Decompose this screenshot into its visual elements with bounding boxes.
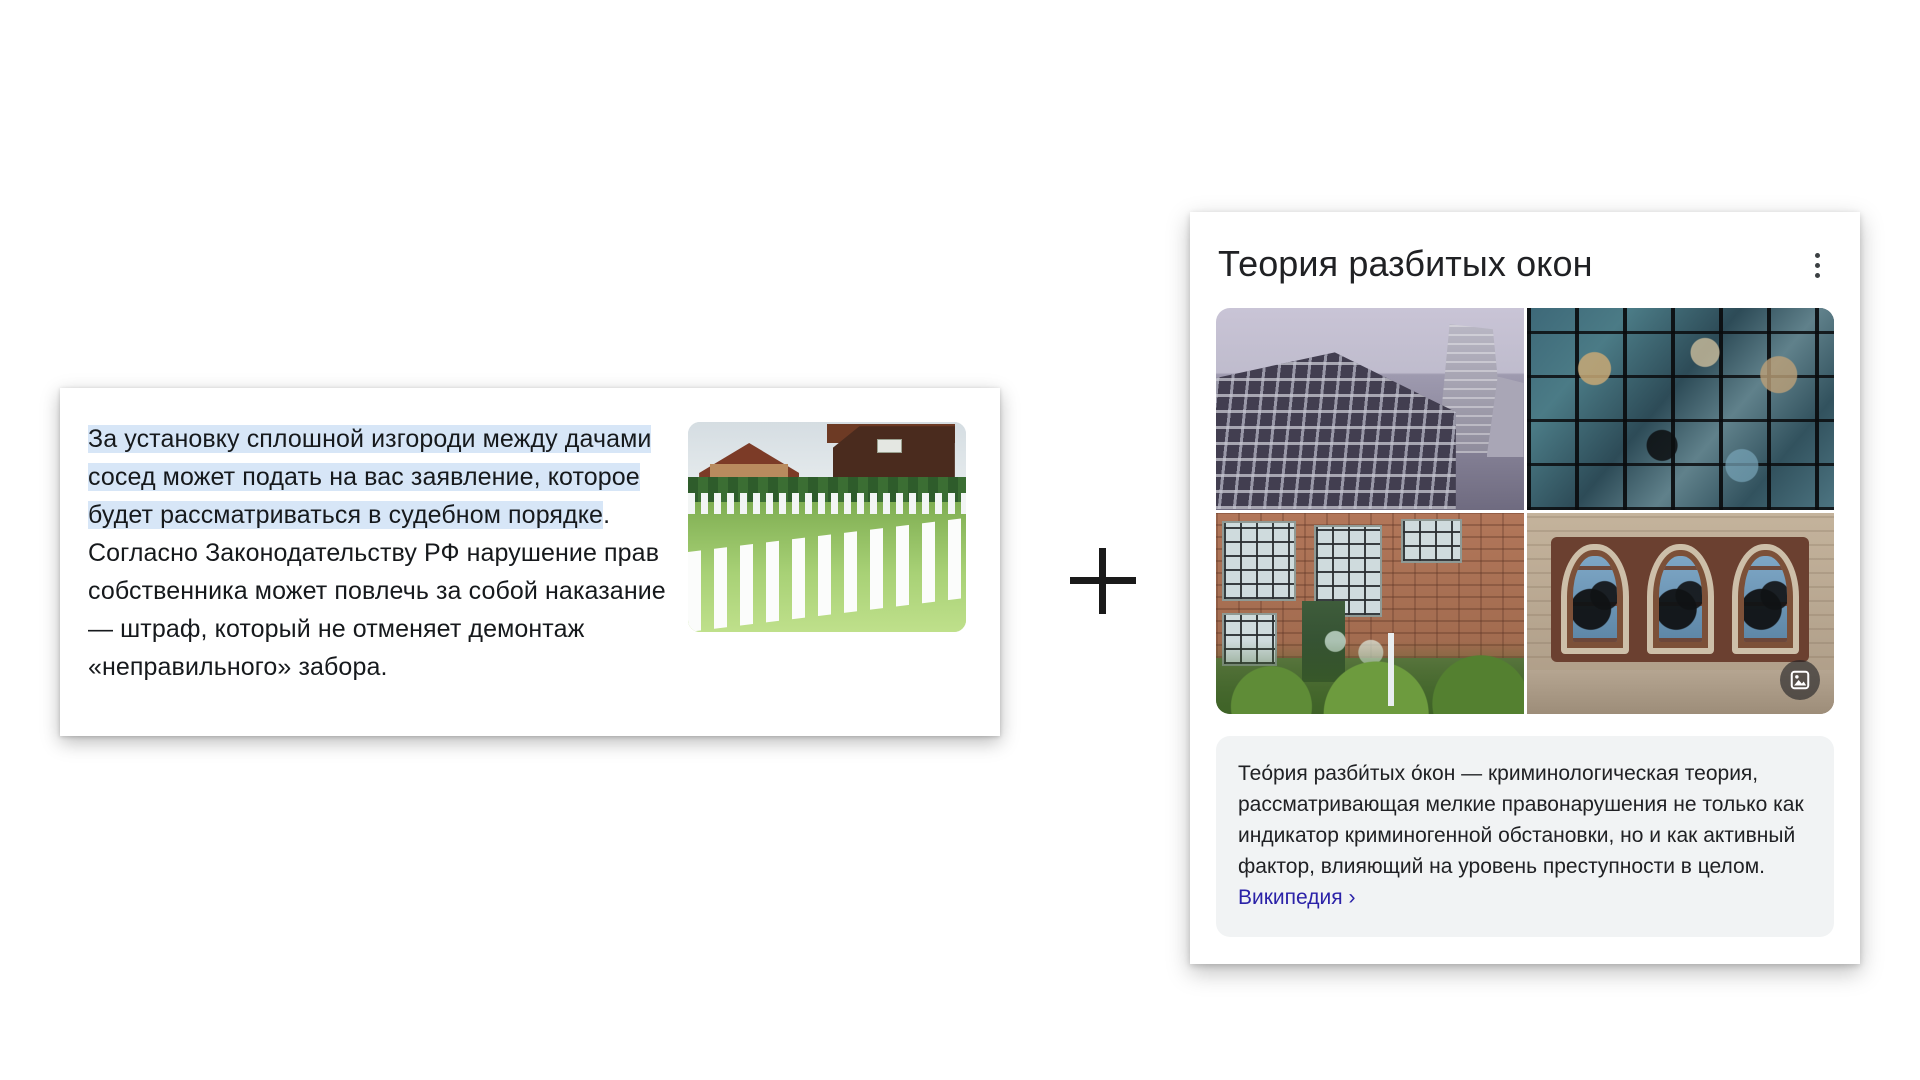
arched-window-3 bbox=[1732, 544, 1799, 654]
page-title: Теория разбитых окон bbox=[1218, 242, 1593, 286]
snippet-paragraph: За установку сплошной изгороди между дач… bbox=[88, 418, 670, 686]
broken-window-1 bbox=[1222, 521, 1296, 602]
white-pole bbox=[1388, 633, 1394, 706]
kebab-menu-icon[interactable] bbox=[1802, 248, 1832, 282]
broken-window-3 bbox=[1401, 519, 1463, 563]
fence-thumbnail-image[interactable] bbox=[688, 422, 966, 632]
plus-icon bbox=[1070, 548, 1136, 614]
broken-glass-2 bbox=[1659, 556, 1702, 642]
overgrown-vegetation bbox=[1216, 641, 1524, 714]
broken-glass-1 bbox=[1573, 556, 1616, 642]
kebab-dot-2 bbox=[1815, 263, 1820, 268]
knowledge-panel-header: Теория разбитых окон bbox=[1218, 242, 1832, 286]
house-right-body bbox=[833, 426, 955, 481]
arched-window-1 bbox=[1561, 544, 1628, 654]
grid-photo-3[interactable] bbox=[1216, 513, 1524, 715]
wikipedia-link[interactable]: Википедия › bbox=[1238, 886, 1355, 909]
grid-photo-2[interactable] bbox=[1527, 308, 1835, 510]
house-right-window bbox=[877, 439, 902, 454]
kebab-dot-3 bbox=[1815, 273, 1820, 278]
chevron-right-icon: › bbox=[1348, 886, 1355, 909]
wikipedia-link-label: Википедия bbox=[1238, 886, 1343, 909]
grid-photo-1[interactable] bbox=[1216, 308, 1524, 510]
window-frame bbox=[1551, 537, 1809, 662]
background-picket-fence bbox=[688, 493, 966, 514]
description-panel: Тео́рия разби́тых о́кон — криминологичес… bbox=[1216, 736, 1834, 937]
gutted-concrete-block bbox=[1216, 352, 1456, 509]
highlighted-selection: За установку сплошной изгороди между дач… bbox=[88, 425, 651, 529]
image-grid[interactable] bbox=[1216, 308, 1834, 714]
knowledge-panel-card: Теория разбитых окон bbox=[1190, 212, 1860, 964]
broken-glass-3 bbox=[1744, 556, 1787, 642]
left-snippet-card: За установку сплошной изгороди между дач… bbox=[60, 388, 1000, 736]
kebab-dot-1 bbox=[1815, 253, 1820, 258]
arched-window-2 bbox=[1647, 544, 1714, 654]
image-icon[interactable] bbox=[1780, 660, 1820, 700]
description-text: Тео́рия разби́тых о́кон — криминологичес… bbox=[1238, 762, 1804, 878]
